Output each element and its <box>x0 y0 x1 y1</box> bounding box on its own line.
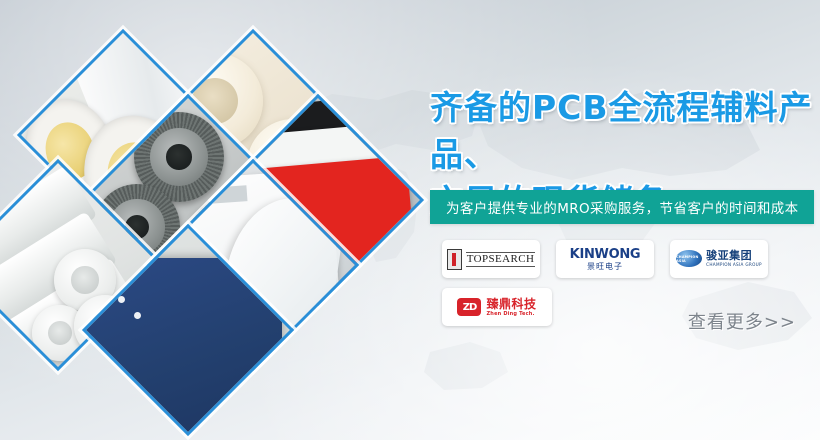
partner-logo-topsearch[interactable]: TOPSEARCH <box>442 240 540 278</box>
partner-logo-kinwong[interactable]: KINWONG 景旺电子 <box>556 240 654 278</box>
partner-logo-row-1: TOPSEARCH KINWONG 景旺电子 CHAMPION ASIA 骏亚集… <box>442 240 818 278</box>
partner-logo-zhen-ding[interactable]: ZD 臻鼎科技 Zhen Ding Tech. <box>442 288 552 326</box>
zhen-ding-label-en: Zhen Ding Tech. <box>486 312 536 317</box>
champion-asia-label-cn: 骏亚集团 <box>706 250 762 261</box>
subtitle-text: 为客户提供专业的MRO采购服务，节省客户的时间和成本 <box>430 197 799 217</box>
zhen-ding-label-cn: 臻鼎科技 <box>486 298 536 310</box>
topsearch-mark-icon <box>447 249 462 270</box>
promo-banner: JIE 齐备的PCB全流程辅料产品、 充足的现货储备 为客户提供专业的MRO采购… <box>0 0 820 440</box>
subtitle-bar: 为客户提供专业的MRO采购服务，节省客户的时间和成本 <box>430 190 814 224</box>
kinwong-label-en: KINWONG <box>570 248 641 261</box>
copy-block: 齐备的PCB全流程辅料产品、 充足的现货储备 为客户提供专业的MRO采购服务，节… <box>428 0 820 440</box>
topsearch-label: TOPSEARCH <box>466 252 536 267</box>
champion-asia-globe-icon: CHAMPION ASIA <box>676 250 702 267</box>
zhen-ding-mark-icon: ZD <box>457 298 481 316</box>
kinwong-label-cn: 景旺电子 <box>587 263 623 271</box>
view-more-link[interactable]: 查看更多>> <box>688 308 796 334</box>
champion-asia-label-en: CHAMPION ASIA GROUP <box>706 263 762 267</box>
partner-logo-champion-asia[interactable]: CHAMPION ASIA 骏亚集团 CHAMPION ASIA GROUP <box>670 240 768 278</box>
kinwong-wordmark-icon: KINWONG 景旺电子 <box>570 248 641 271</box>
product-tile-collage: JIE <box>0 0 430 440</box>
